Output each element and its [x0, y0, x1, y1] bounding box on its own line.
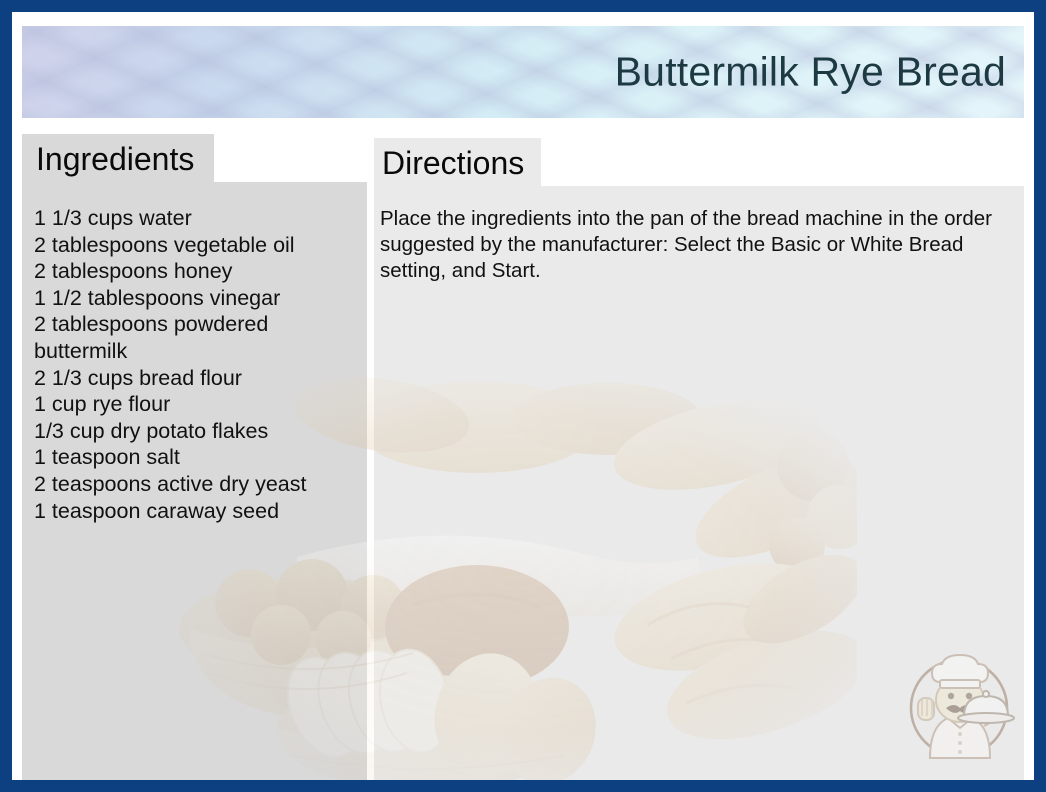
- ingredients-header: Ingredients: [22, 134, 214, 180]
- ingredient-item: 1 cup rye flour: [34, 391, 354, 418]
- ingredient-item: 2 tablespoons honey: [34, 258, 354, 285]
- ingredient-item: 2 tablespoons powdered: [34, 311, 354, 338]
- ingredient-item: 2 1/3 cups bread flour: [34, 365, 354, 392]
- ingredients-header-label: Ingredients: [36, 141, 194, 178]
- recipe-slide: Buttermilk Rye Bread: [0, 0, 1046, 792]
- directions-header-label: Directions: [382, 145, 524, 182]
- ingredient-item: 1 teaspoon salt: [34, 444, 354, 471]
- ingredient-item: 1 1/3 cups water: [34, 205, 354, 232]
- slide-inner-canvas: Buttermilk Rye Bread: [12, 12, 1034, 780]
- directions-text: Place the ingredients into the pan of th…: [380, 206, 1024, 284]
- directions-header: Directions: [374, 138, 541, 184]
- ingredient-item: 1 teaspoon caraway seed: [34, 498, 354, 525]
- ingredients-list: 1 1/3 cups water2 tablespoons vegetable …: [34, 205, 354, 524]
- page-title: Buttermilk Rye Bread: [615, 49, 1006, 96]
- ingredient-item: 2 teaspoons active dry yeast: [34, 471, 354, 498]
- ingredient-item: buttermilk: [34, 338, 354, 365]
- title-banner: Buttermilk Rye Bread: [22, 26, 1024, 118]
- ingredient-item: 2 tablespoons vegetable oil: [34, 232, 354, 259]
- ingredient-item: 1 1/2 tablespoons vinegar: [34, 285, 354, 312]
- ingredients-tab-notch: [214, 134, 367, 182]
- directions-body: Place the ingredients into the pan of th…: [380, 206, 1024, 284]
- directions-tab-notch: [541, 138, 1024, 186]
- ingredient-item: 1/3 cup dry potato flakes: [34, 418, 354, 445]
